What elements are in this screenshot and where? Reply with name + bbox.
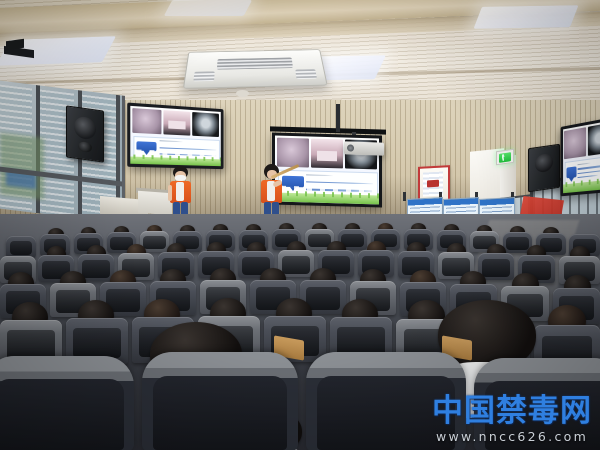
watermark-url: www.nncc626.com bbox=[432, 429, 592, 444]
foreground-auditorium-seat bbox=[142, 352, 298, 450]
watermark: 中国禁毒网 www.nncc626.com bbox=[432, 395, 592, 444]
watermark-brand: 中国禁毒网 bbox=[432, 395, 592, 428]
foreground-auditorium-seat bbox=[0, 356, 134, 450]
foreground-seating bbox=[0, 0, 600, 450]
auditorium-photo: 中国禁毒网 www.nncc626.com bbox=[0, 0, 600, 450]
